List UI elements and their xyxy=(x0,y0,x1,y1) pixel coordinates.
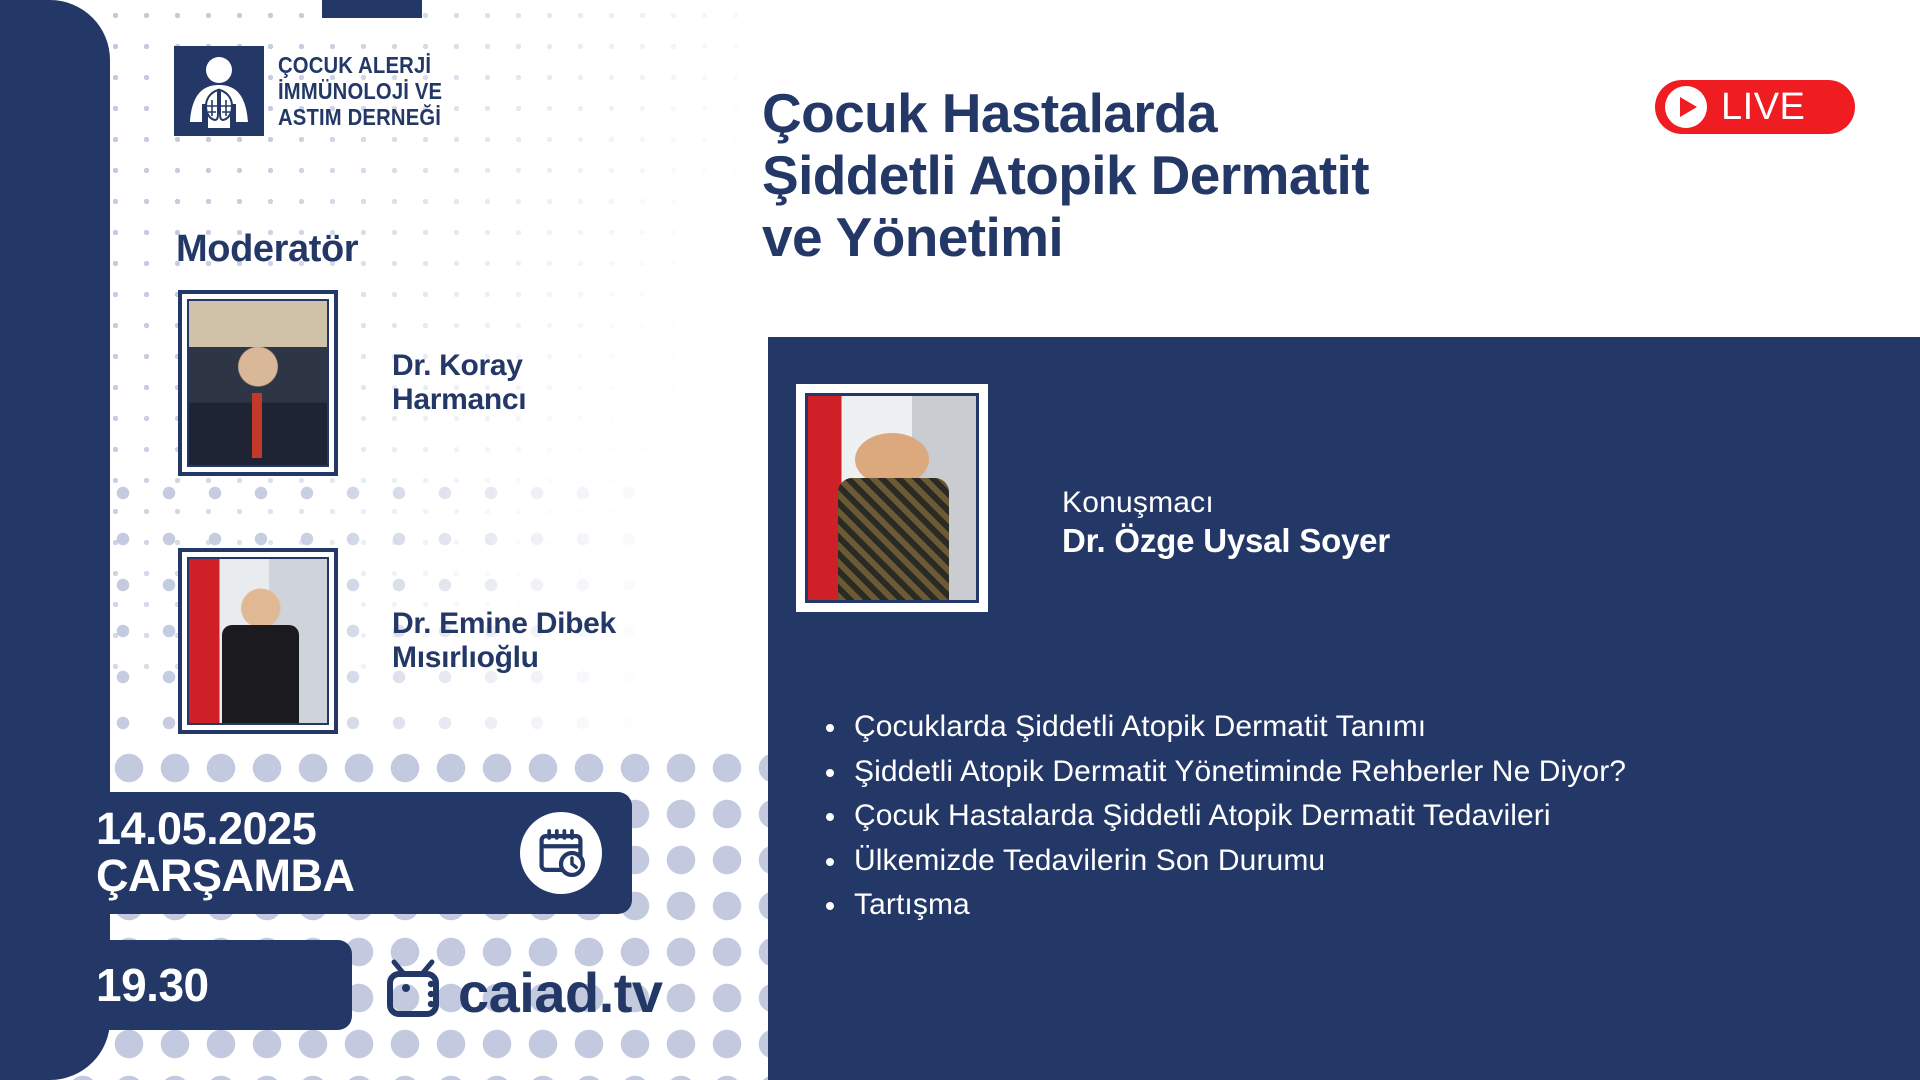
list-item: Çocuklarda Şiddetli Atopik Dermatit Tanı… xyxy=(822,707,1892,747)
webinar-poster: ÇOCUK ALERJİ İMMÜNOLOJİ VE ASTIM DERNEĞİ… xyxy=(0,0,1920,1080)
live-badge[interactable]: LIVE xyxy=(1655,80,1855,134)
live-label: LIVE xyxy=(1721,86,1805,129)
topic-list: Çocuklarda Şiddetli Atopik Dermatit Tanı… xyxy=(822,707,1892,930)
event-date-text: 14.05.2025 ÇARŞAMBA xyxy=(96,806,355,900)
speaker-info: Konuşmacı Dr. Özge Uysal Soyer xyxy=(1062,486,1390,560)
moderator-name-1: Dr. Koray Harmancı xyxy=(392,349,526,416)
moderator-photo-1 xyxy=(178,290,338,476)
event-time-text: 19.30 xyxy=(96,958,209,1012)
event-time-badge: 19.30 xyxy=(72,940,352,1030)
event-date-badge: 14.05.2025 ÇARŞAMBA xyxy=(72,792,632,914)
moderator-entry-1: Dr. Koray Harmancı xyxy=(178,290,526,476)
moderator-name-2: Dr. Emine Dibek Mısırlıoğlu xyxy=(392,607,616,674)
list-item: Tartışma xyxy=(822,885,1892,925)
speaker-name: Dr. Özge Uysal Soyer xyxy=(1062,522,1390,560)
speaker-role: Konuşmacı xyxy=(1062,486,1390,520)
moderator-entry-2: Dr. Emine Dibek Mısırlıoğlu xyxy=(178,548,616,734)
association-logo: ÇOCUK ALERJİ İMMÜNOLOJİ VE ASTIM DERNEĞİ xyxy=(174,46,465,136)
calendar-clock-icon xyxy=(520,812,602,894)
list-item: Şiddetli Atopik Dermatit Yönetiminde Reh… xyxy=(822,752,1892,792)
list-item: Ülkemizde Tedavilerin Son Durumu xyxy=(822,841,1892,881)
speaker-photo xyxy=(796,384,988,612)
lungs-person-icon xyxy=(174,46,264,136)
site-link[interactable]: caiad.tv xyxy=(382,958,663,1027)
list-item: Çocuk Hastalarda Şiddetli Atopik Dermati… xyxy=(822,796,1892,836)
play-icon xyxy=(1665,86,1707,128)
top-accent-tab xyxy=(322,0,422,18)
tv-icon xyxy=(382,958,452,1027)
logo-text: ÇOCUK ALERJİ İMMÜNOLOJİ VE ASTIM DERNEĞİ xyxy=(278,52,442,130)
moderator-photo-2 xyxy=(178,548,338,734)
site-text: caiad.tv xyxy=(458,960,663,1025)
page-title: Çocuk Hastalarda Şiddetli Atopik Dermati… xyxy=(762,82,1369,268)
moderator-section-label: Moderatör xyxy=(176,228,358,271)
left-edge-slab xyxy=(0,0,110,1080)
